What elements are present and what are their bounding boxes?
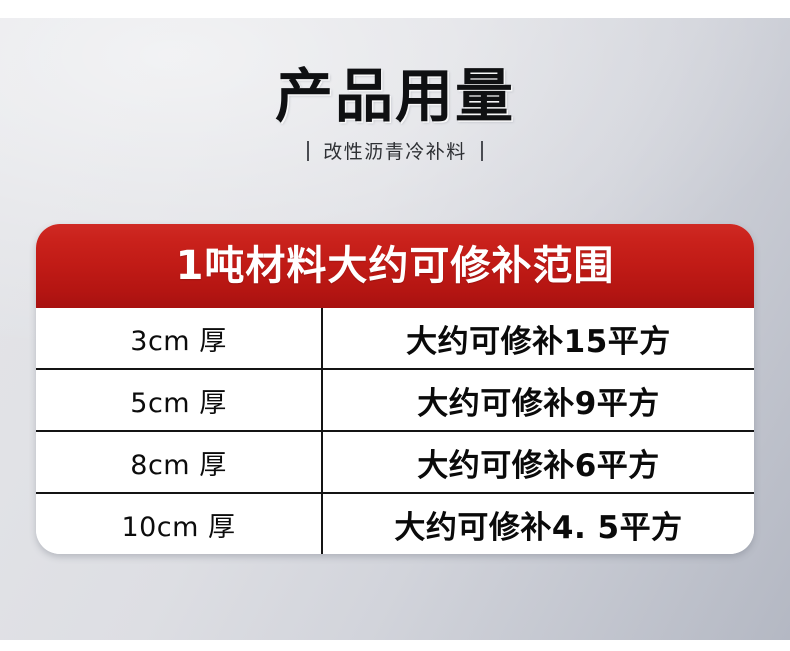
table-cell-thickness: 10cm 厚 [36,494,321,554]
table-row: 8cm 厚 大约可修补6平方 [36,432,754,494]
heading-block: 产品用量 改性沥青冷补料 [0,66,790,164]
thickness-value: 8cm 厚 [130,443,226,482]
coverage-value: 大约可修补4. 5平方 [394,502,682,547]
subtitle-right-rule-icon [481,141,483,161]
subtitle-row: 改性沥青冷补料 [0,137,790,164]
page-title: 产品用量 [0,66,790,126]
table-cell-thickness: 5cm 厚 [36,370,321,430]
table-row: 5cm 厚 大约可修补9平方 [36,370,754,432]
subtitle-text: 改性沥青冷补料 [323,137,467,164]
table-cell-coverage: 大约可修补4. 5平方 [323,494,754,554]
coverage-table-body: 3cm 厚 大约可修补15平方 5cm 厚 大约可修补9平方 8cm 厚 [36,308,754,554]
coverage-value: 大约可修补15平方 [406,316,671,361]
coverage-table-card: 1吨材料大约可修补范围 3cm 厚 大约可修补15平方 5cm 厚 大约可修补9… [36,224,754,554]
thickness-value: 10cm 厚 [121,505,235,544]
product-usage-infographic: 产品用量 改性沥青冷补料 1吨材料大约可修补范围 3cm 厚 大约可修补15平方 [0,0,790,651]
table-row: 10cm 厚 大约可修补4. 5平方 [36,494,754,554]
coverage-value: 大约可修补9平方 [417,378,660,423]
table-cell-thickness: 3cm 厚 [36,308,321,368]
table-cell-coverage: 大约可修补15平方 [323,308,754,368]
subtitle-left-rule-icon [307,141,309,161]
table-cell-coverage: 大约可修补9平方 [323,370,754,430]
card-header-title: 1吨材料大约可修补范围 [176,246,615,286]
thickness-value: 5cm 厚 [130,381,226,420]
card-header-banner: 1吨材料大约可修补范围 [36,224,754,308]
table-row: 3cm 厚 大约可修补15平方 [36,308,754,370]
table-cell-coverage: 大约可修补6平方 [323,432,754,492]
thickness-value: 3cm 厚 [130,319,226,358]
coverage-value: 大约可修补6平方 [417,440,660,485]
table-cell-thickness: 8cm 厚 [36,432,321,492]
